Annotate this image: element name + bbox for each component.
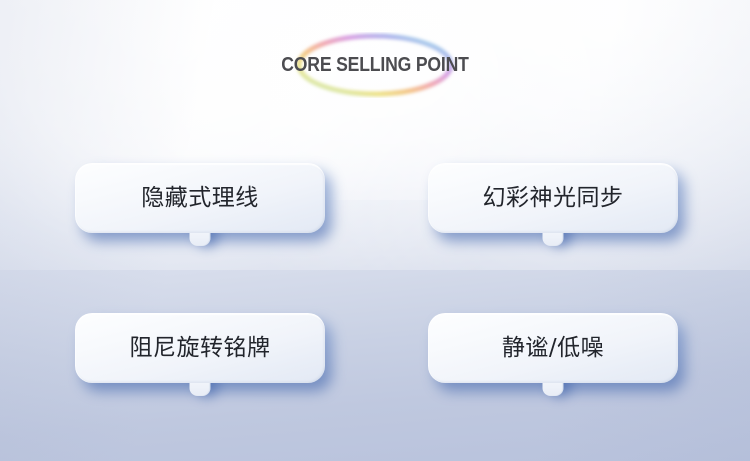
- card-damped-rotating-nameplate[interactable]: 阻尼旋转铭牌: [75, 313, 325, 383]
- poster-stage: CORE SELLING POINT 隐藏式理线 幻彩神光同步 阻尼旋转铭牌 静…: [0, 0, 750, 461]
- card-label: 幻彩神光同步: [483, 187, 624, 210]
- card-bottom-tab: [543, 231, 564, 246]
- card-label: 静谧/低噪: [502, 337, 604, 360]
- header: CORE SELLING POINT: [0, 32, 750, 98]
- card-hidden-cable-routing[interactable]: 隐藏式理线: [75, 163, 325, 233]
- card-body[interactable]: 隐藏式理线: [75, 163, 325, 233]
- card-bottom-tab: [190, 381, 211, 396]
- page-title: CORE SELLING POINT: [45, 54, 705, 77]
- card-bottom-tab: [543, 381, 564, 396]
- card-quiet-low-noise[interactable]: 静谧/低噪: [428, 313, 678, 383]
- card-body[interactable]: 幻彩神光同步: [428, 163, 678, 233]
- card-body[interactable]: 静谧/低噪: [428, 313, 678, 383]
- card-body[interactable]: 阻尼旋转铭牌: [75, 313, 325, 383]
- card-bottom-tab: [190, 231, 211, 246]
- card-label: 阻尼旋转铭牌: [130, 337, 271, 360]
- card-rgb-light-sync[interactable]: 幻彩神光同步: [428, 163, 678, 233]
- card-label: 隐藏式理线: [141, 187, 259, 210]
